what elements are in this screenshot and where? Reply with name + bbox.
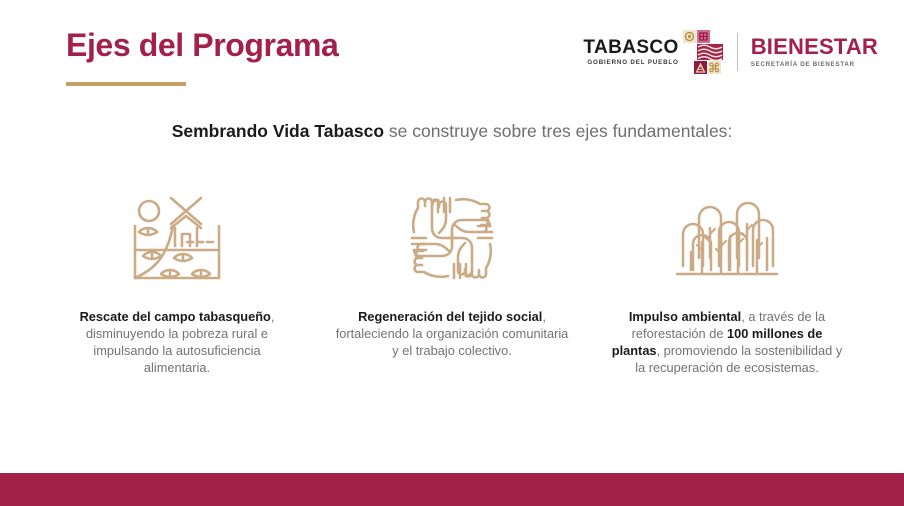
intro-lead-text: Sembrando Vida Tabasco	[172, 121, 384, 141]
four-hands-solidarity-icon	[400, 190, 504, 286]
pillar-column-rescate-del-campo: Rescate del campo tabasqueño, disminuyen…	[40, 190, 314, 376]
tabasco-logo-title: TABASCO	[583, 38, 678, 57]
logo-divider	[737, 33, 738, 71]
farm-countryside-icon	[125, 190, 229, 286]
pillar-bold-lead-1: Rescate del campo tabasqueño	[80, 309, 271, 324]
slide-root: Ejes del Programa TABASCO GOBIERNO DEL P…	[0, 0, 904, 506]
slide-header: Ejes del Programa TABASCO GOBIERNO DEL P…	[0, 0, 904, 100]
pillar-bold-lead-3: Impulso ambiental	[629, 309, 741, 324]
pillar-columns: Rescate del campo tabasqueño, disminuyen…	[40, 190, 864, 376]
intro-rest-text: se construye sobre tres ejes fundamental…	[384, 121, 732, 141]
pillar-text-tejido-social: Regeneración del tejido social, fortalec…	[328, 308, 576, 359]
forest-trees-icon	[675, 190, 779, 286]
page-title: Ejes del Programa	[66, 25, 338, 65]
tabasco-emblem-icon	[682, 30, 724, 74]
pillar-text-impulso-ambiental: Impulso ambiental, a través de la refore…	[600, 308, 854, 376]
tabasco-wordmark: TABASCO GOBIERNO DEL PUEBLO	[583, 38, 678, 66]
bienestar-logo: BIENESTAR SECRETARÍA DE BIENESTAR	[751, 36, 878, 68]
bienestar-logo-title: BIENESTAR	[751, 36, 878, 58]
logo-lockup: TABASCO GOBIERNO DEL PUEBLO	[583, 28, 878, 76]
tabasco-logo-subtitle: GOBIERNO DEL PUEBLO	[583, 60, 678, 66]
pillar-tail-3: , promoviendo la sostenibilidad y la rec…	[635, 343, 842, 375]
footer-bar	[0, 473, 904, 506]
pillar-bold-lead-2: Regeneración del tejido social	[358, 309, 542, 324]
pillar-column-impulso-ambiental: Impulso ambiental, a través de la refore…	[590, 190, 864, 376]
bienestar-logo-subtitle: SECRETARÍA DE BIENESTAR	[751, 62, 878, 68]
pillar-column-tejido-social: Regeneración del tejido social, fortalec…	[315, 190, 589, 359]
title-underline-rule	[66, 82, 186, 86]
pillar-text-rescate-del-campo: Rescate del campo tabasqueño, disminuyen…	[66, 308, 288, 376]
tabasco-logo: TABASCO GOBIERNO DEL PUEBLO	[583, 30, 723, 74]
intro-sentence: Sembrando Vida Tabasco se construye sobr…	[0, 119, 904, 143]
